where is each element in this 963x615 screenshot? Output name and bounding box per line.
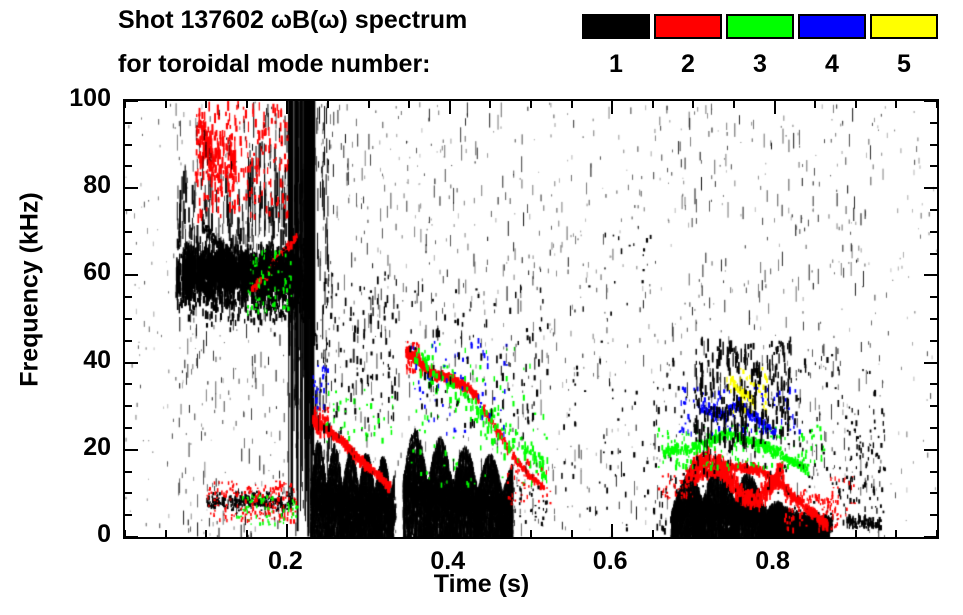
y-tick (930, 231, 937, 233)
y-tick-label: 20 (31, 433, 111, 462)
x-tick (327, 530, 329, 537)
x-tick (408, 101, 410, 108)
y-tick (924, 362, 937, 364)
y-tick (924, 449, 937, 451)
x-tick-label: 0.8 (743, 547, 803, 576)
x-tick (165, 530, 167, 537)
x-tick (165, 101, 167, 108)
legend-item-4: 4 (798, 14, 866, 77)
y-axis-title: Frequency (kHz) (16, 90, 45, 490)
x-tick (368, 101, 370, 108)
legend-swatch-n5-yellow (870, 14, 938, 39)
legend-swatch-n3-green (726, 14, 794, 39)
spectrogram-figure: Shot 137602 ωB(ω) spectrum for toroidal … (0, 0, 963, 615)
x-tick (611, 524, 613, 537)
y-tick (125, 362, 138, 364)
y-tick (125, 383, 132, 385)
x-tick (652, 101, 654, 108)
x-axis-title: Time (s) (0, 570, 963, 599)
x-tick (205, 101, 207, 108)
y-tick (125, 405, 132, 407)
x-tick (895, 101, 897, 108)
y-tick (125, 340, 132, 342)
y-tick (930, 296, 937, 298)
x-tick (124, 101, 126, 108)
y-tick (930, 492, 937, 494)
y-tick (930, 165, 937, 167)
y-tick-label: 40 (31, 346, 111, 375)
y-tick (930, 340, 937, 342)
y-tick (924, 536, 937, 538)
y-tick (125, 536, 138, 538)
x-tick (936, 101, 938, 108)
y-tick-label: 80 (31, 171, 111, 200)
x-tick (449, 101, 451, 114)
x-tick (774, 101, 776, 114)
y-tick (125, 514, 132, 516)
plot-frame (123, 99, 939, 539)
y-tick (924, 100, 937, 102)
x-tick (692, 530, 694, 537)
figure-title-line-1: Shot 137602 ωB(ω) spectrum (118, 6, 467, 35)
y-tick (125, 122, 132, 124)
x-tick (855, 530, 857, 537)
legend-item-1: 1 (582, 14, 650, 77)
legend-label-2: 2 (654, 52, 722, 77)
legend-swatch-n1-black (582, 14, 650, 39)
legend-swatch-n4-blue (798, 14, 866, 39)
y-tick (125, 492, 132, 494)
y-tick (125, 100, 138, 102)
y-tick (930, 427, 937, 429)
x-tick (814, 530, 816, 537)
x-tick-label: 0.6 (580, 547, 640, 576)
y-tick-label: 0 (31, 520, 111, 549)
y-tick (930, 471, 937, 473)
y-tick (125, 165, 132, 167)
x-tick (246, 101, 248, 108)
y-tick (930, 209, 937, 211)
x-tick (571, 530, 573, 537)
y-tick (125, 209, 132, 211)
y-tick (125, 253, 132, 255)
legend-label-4: 4 (798, 52, 866, 77)
x-tick (449, 524, 451, 537)
y-tick (125, 471, 132, 473)
y-tick (125, 187, 138, 189)
y-tick (125, 318, 132, 320)
x-tick (895, 530, 897, 537)
y-tick (930, 405, 937, 407)
x-tick (205, 530, 207, 537)
legend-item-5: 5 (870, 14, 938, 77)
x-tick (408, 530, 410, 537)
y-tick (125, 296, 132, 298)
x-tick-label: 0.2 (255, 547, 315, 576)
y-tick (930, 144, 937, 146)
mode-number-legend: 12345 (582, 14, 942, 86)
y-tick (930, 122, 937, 124)
y-tick-label: 60 (31, 258, 111, 287)
figure-title-line-2: for toroidal mode number: (118, 50, 431, 79)
x-tick (246, 530, 248, 537)
x-tick (774, 524, 776, 537)
x-tick (652, 530, 654, 537)
x-tick (855, 101, 857, 108)
legend-label-3: 3 (726, 52, 794, 77)
y-tick (930, 383, 937, 385)
y-tick (125, 231, 132, 233)
y-tick (924, 187, 937, 189)
y-tick (125, 274, 138, 276)
y-tick (924, 274, 937, 276)
x-tick (530, 101, 532, 108)
x-tick (368, 530, 370, 537)
x-tick (733, 530, 735, 537)
legend-item-2: 2 (654, 14, 722, 77)
x-tick (489, 101, 491, 108)
y-tick (930, 253, 937, 255)
x-tick (733, 101, 735, 108)
x-tick (489, 530, 491, 537)
legend-label-5: 5 (870, 52, 938, 77)
spectrogram-canvas (125, 101, 937, 537)
x-tick (530, 530, 532, 537)
x-tick (611, 101, 613, 114)
y-tick (125, 449, 138, 451)
y-tick (125, 144, 132, 146)
x-tick (286, 101, 288, 114)
x-tick (571, 101, 573, 108)
legend-swatch-n2-red (654, 14, 722, 39)
y-tick (930, 514, 937, 516)
y-tick-label: 100 (31, 84, 111, 113)
y-tick (125, 427, 132, 429)
x-tick (327, 101, 329, 108)
y-tick (930, 318, 937, 320)
x-tick (286, 524, 288, 537)
x-tick-label: 0.4 (418, 547, 478, 576)
legend-item-3: 3 (726, 14, 794, 77)
x-tick (814, 101, 816, 108)
legend-label-1: 1 (582, 52, 650, 77)
x-tick (692, 101, 694, 108)
